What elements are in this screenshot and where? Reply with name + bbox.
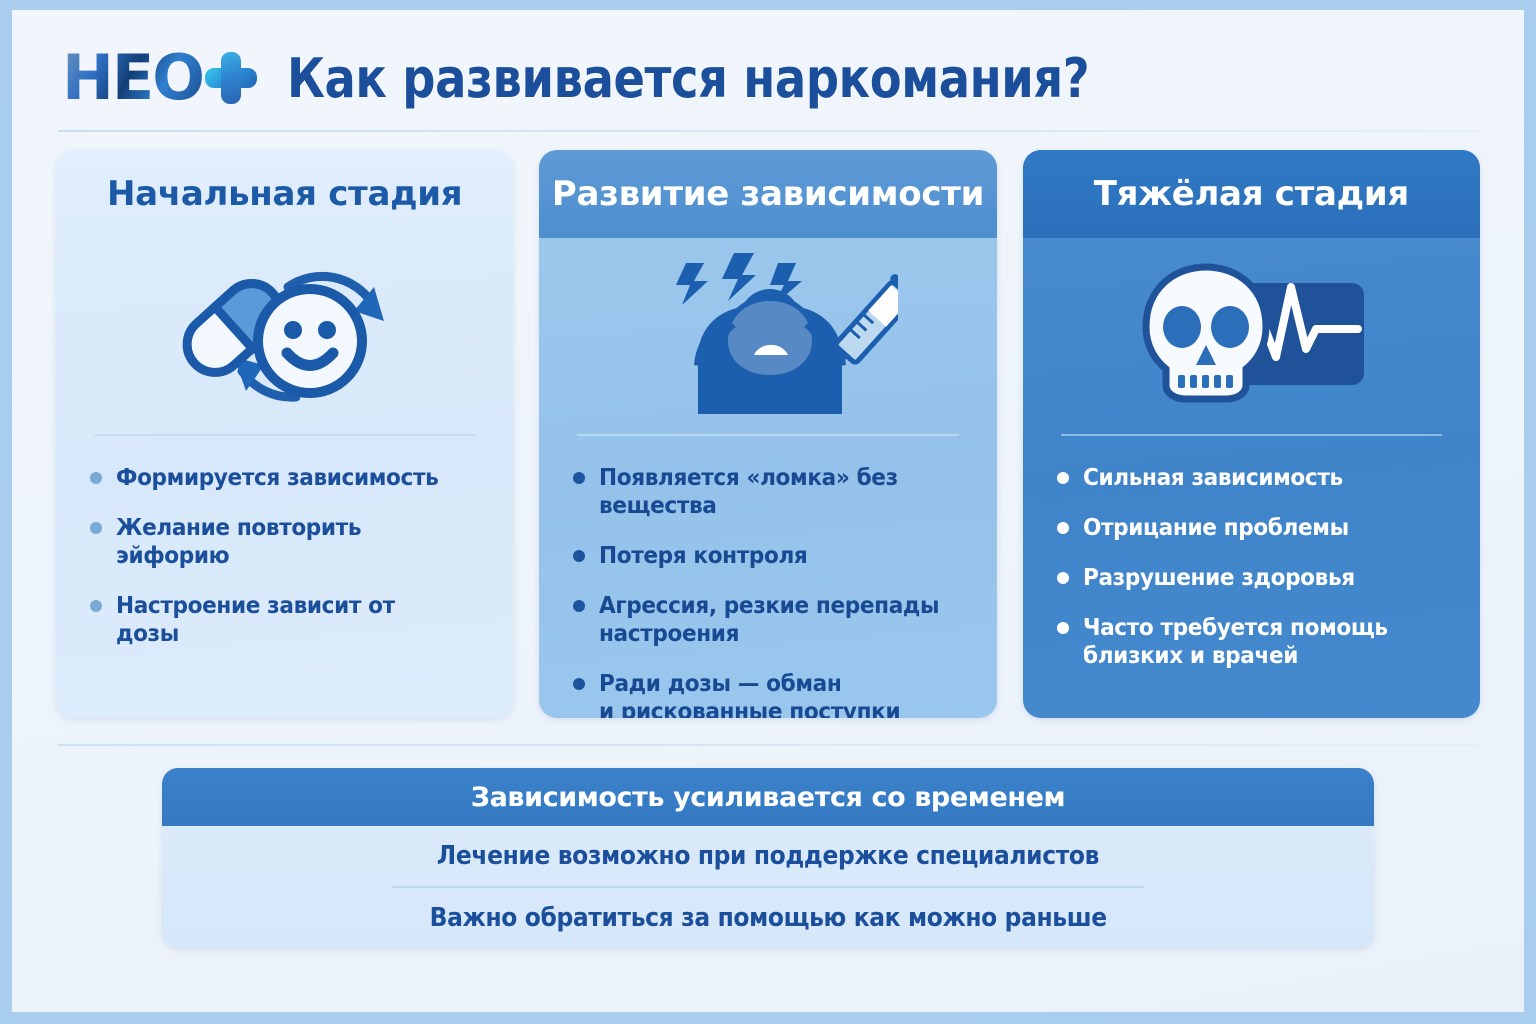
list-item: Настроение зависит от дозы bbox=[90, 592, 483, 648]
stage-card-title: Начальная стадия bbox=[56, 150, 513, 238]
bullet-text: Формируется зависимость bbox=[116, 464, 438, 492]
summary-line-1: Лечение возможно при поддержке специалис… bbox=[162, 826, 1374, 886]
list-item: Часто требуется помощь близких и врачей bbox=[1057, 614, 1450, 670]
page-surface: НЕО Как развивается наркомания? Начальна… bbox=[12, 10, 1524, 1012]
header: НЕО Как развивается наркомания? bbox=[56, 32, 1480, 124]
list-item: Появляется «ломка» без вещества bbox=[573, 464, 966, 520]
page-title: Как развивается наркомания? bbox=[287, 47, 1089, 110]
list-item: Отрицание проблемы bbox=[1057, 514, 1450, 542]
bullet-dot bbox=[90, 472, 102, 484]
stage-card-body: Появляется «ломка» без вещества Потеря к… bbox=[539, 238, 996, 718]
stage-card-developing: Развитие зависимости bbox=[539, 150, 996, 718]
footer-divider bbox=[58, 744, 1478, 746]
list-item: Ради дозы — обман и рискованные поступки bbox=[573, 670, 966, 718]
stage-bullet-list: Появляется «ломка» без вещества Потеря к… bbox=[539, 436, 996, 718]
stage-card-title: Тяжёлая стадия bbox=[1023, 150, 1480, 238]
distressed-person-and-syringe-icon bbox=[539, 238, 996, 434]
bullet-dot bbox=[90, 522, 102, 534]
list-item: Разрушение здоровья bbox=[1057, 564, 1450, 592]
brand-logo: НЕО bbox=[62, 47, 257, 109]
stage-card-body: Формируется зависимость Желание повторит… bbox=[56, 238, 513, 718]
summary-line-1-text: Лечение возможно при поддержке специалис… bbox=[437, 841, 1099, 871]
bullet-dot bbox=[573, 600, 585, 612]
bullet-text: Настроение зависит от дозы bbox=[116, 592, 461, 648]
bullet-dot bbox=[1057, 522, 1069, 534]
summary-line-2: Важно обратиться за помощью как можно ра… bbox=[162, 888, 1374, 948]
stage-card-title: Развитие зависимости bbox=[539, 150, 996, 238]
stage-cards: Начальная стадия bbox=[56, 150, 1480, 718]
bullet-text: Ради дозы — обман и рискованные поступки bbox=[599, 670, 900, 718]
stage-bullet-list: Формируется зависимость Желание повторит… bbox=[56, 436, 513, 668]
list-item: Сильная зависимость bbox=[1057, 464, 1450, 492]
pill-and-smiley-cycle-icon bbox=[56, 238, 513, 434]
header-divider bbox=[58, 130, 1478, 132]
list-item: Агрессия, резкие перепады настроения bbox=[573, 592, 966, 648]
bullet-text: Отрицание проблемы bbox=[1083, 514, 1349, 542]
bullet-dot bbox=[573, 550, 585, 562]
plus-icon bbox=[205, 52, 257, 104]
bullet-text: Часто требуется помощь близких и врачей bbox=[1083, 614, 1388, 670]
summary-line-2-text: Важно обратиться за помощью как можно ра… bbox=[429, 903, 1106, 933]
bullet-dot bbox=[573, 472, 585, 484]
bullet-text: Агрессия, резкие перепады настроения bbox=[599, 592, 944, 648]
stage-card-initial: Начальная стадия bbox=[56, 150, 513, 718]
bullet-text: Разрушение здоровья bbox=[1083, 564, 1355, 592]
bullet-dot bbox=[1057, 472, 1069, 484]
bullet-dot bbox=[1057, 622, 1069, 634]
list-item: Формируется зависимость bbox=[90, 464, 483, 492]
poster-root: НЕО Как развивается наркомания? Начальна… bbox=[0, 0, 1536, 1024]
bullet-text: Сильная зависимость bbox=[1083, 464, 1343, 492]
bullet-dot bbox=[1057, 572, 1069, 584]
bullet-dot bbox=[90, 600, 102, 612]
stage-card-severe: Тяжёлая стадия bbox=[1023, 150, 1480, 718]
stage-card-body: Сильная зависимость Отрицание проблемы Р… bbox=[1023, 238, 1480, 718]
bullet-text: Желание повторить эйфорию bbox=[116, 514, 461, 570]
summary-headline: Зависимость усиливается со временем bbox=[162, 768, 1374, 826]
bullet-text: Потеря контроля bbox=[599, 542, 807, 570]
stage-bullet-list: Сильная зависимость Отрицание проблемы Р… bbox=[1023, 436, 1480, 690]
skull-and-ecg-icon bbox=[1023, 238, 1480, 434]
list-item: Потеря контроля bbox=[573, 542, 966, 570]
bullet-dot bbox=[573, 678, 585, 690]
list-item: Желание повторить эйфорию bbox=[90, 514, 483, 570]
brand-name: НЕО bbox=[62, 47, 203, 109]
summary-panel: Зависимость усиливается со временем Лече… bbox=[162, 768, 1374, 948]
bullet-text: Появляется «ломка» без вещества bbox=[599, 464, 944, 520]
